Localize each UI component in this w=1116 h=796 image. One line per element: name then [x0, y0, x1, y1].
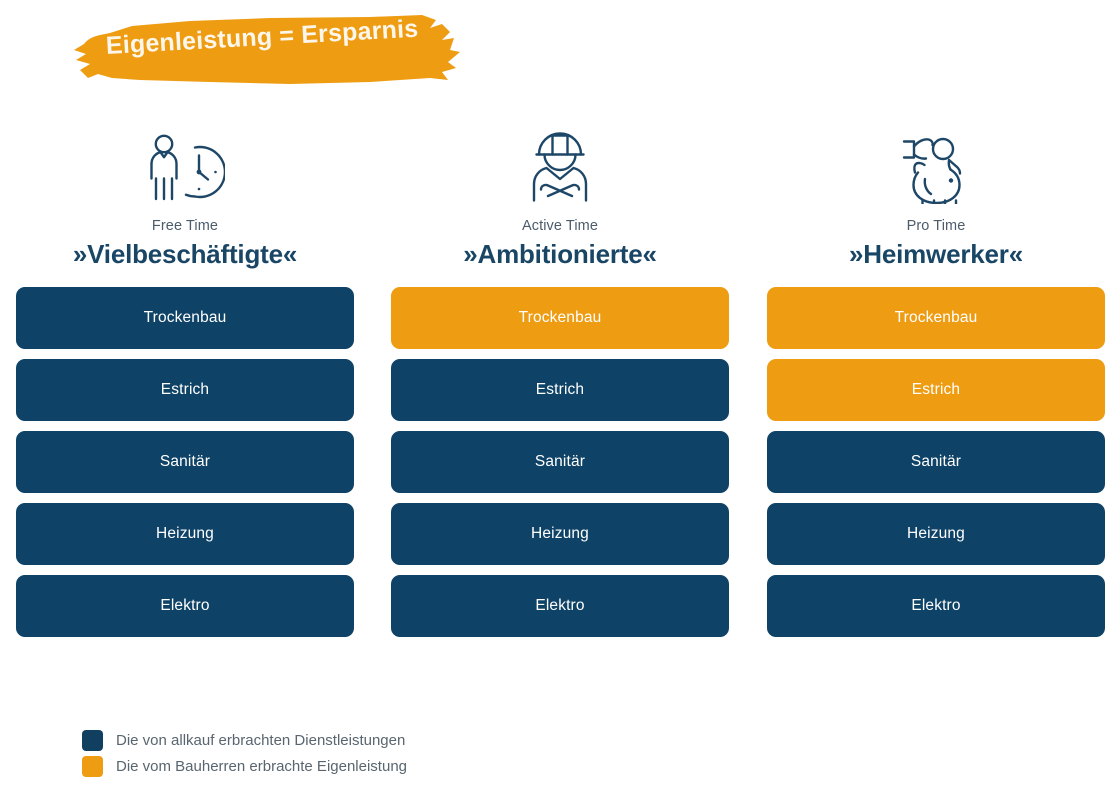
legend-item-service: Die von allkauf erbrachten Dienstleistun… [82, 730, 407, 751]
trade-bar[interactable]: Sanitär [16, 431, 354, 493]
persona-column-ambitionierte: Active Time »Ambitionierte« Trockenbau E… [391, 118, 729, 647]
legend-item-self: Die vom Bauherren erbrachte Eigenleistun… [82, 756, 407, 777]
infographic-page: Eigenleistung = Ersparnis Free Time [0, 0, 1116, 796]
legend-label: Die von allkauf erbrachten Dienstleistun… [116, 732, 405, 749]
trade-bar[interactable]: Estrich [767, 359, 1105, 421]
persona-title: »Ambitionierte« [391, 239, 729, 270]
persona-subtitle: Free Time [16, 218, 354, 234]
trade-bars: Trockenbau Estrich Sanitär Heizung Elekt… [16, 287, 354, 637]
person-clock-icon [16, 118, 354, 204]
persona-columns: Free Time »Vielbeschäftigte« Trockenbau … [0, 118, 1116, 647]
persona-column-heimwerker: Pro Time »Heimwerker« Trockenbau Estrich… [767, 118, 1105, 647]
legend-swatch-self [82, 756, 103, 777]
trade-bar[interactable]: Elektro [767, 575, 1105, 637]
trade-bar[interactable]: Elektro [391, 575, 729, 637]
trade-bar[interactable]: Heizung [767, 503, 1105, 565]
trade-bar[interactable]: Heizung [16, 503, 354, 565]
trade-bar[interactable]: Sanitär [391, 431, 729, 493]
trade-bar[interactable]: Heizung [391, 503, 729, 565]
persona-column-vielbeschaeftigte: Free Time »Vielbeschäftigte« Trockenbau … [16, 118, 354, 647]
legend: Die von allkauf erbrachten Dienstleistun… [82, 730, 407, 782]
trade-bars: Trockenbau Estrich Sanitär Heizung Elekt… [391, 287, 729, 637]
trade-bar[interactable]: Elektro [16, 575, 354, 637]
trade-bar[interactable]: Trockenbau [391, 287, 729, 349]
trade-bar[interactable]: Estrich [391, 359, 729, 421]
legend-label: Die vom Bauherren erbrachte Eigenleistun… [116, 758, 407, 775]
trade-bar[interactable]: Estrich [16, 359, 354, 421]
trade-bar[interactable]: Trockenbau [16, 287, 354, 349]
headline-banner: Eigenleistung = Ersparnis [70, 8, 480, 92]
piggy-bank-icon [767, 118, 1105, 204]
persona-title: »Vielbeschäftigte« [16, 239, 354, 270]
persona-title: »Heimwerker« [767, 239, 1105, 270]
trade-bar[interactable]: Sanitär [767, 431, 1105, 493]
persona-subtitle: Active Time [391, 218, 729, 234]
legend-swatch-service [82, 730, 103, 751]
trade-bars: Trockenbau Estrich Sanitär Heizung Elekt… [767, 287, 1105, 637]
trade-bar[interactable]: Trockenbau [767, 287, 1105, 349]
worker-helmet-icon [391, 118, 729, 204]
persona-subtitle: Pro Time [767, 218, 1105, 234]
